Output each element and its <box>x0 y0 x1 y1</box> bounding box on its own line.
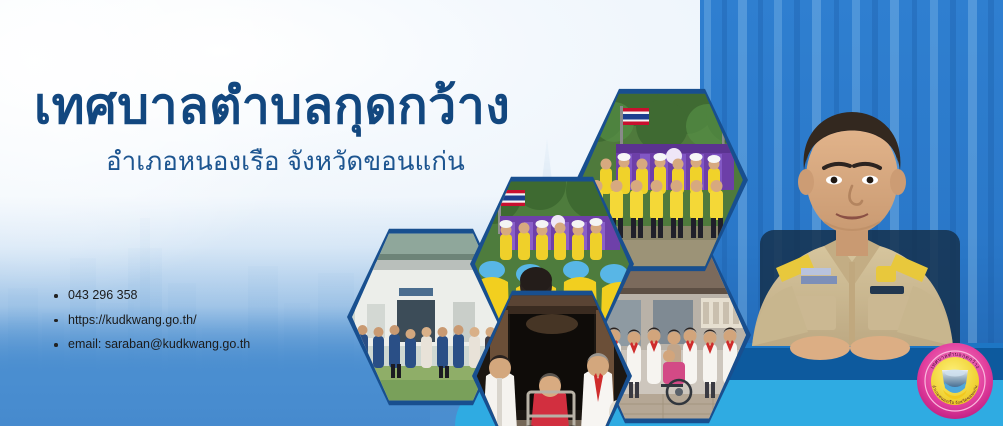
contact-phone: 043 296 358 <box>52 289 250 302</box>
municipality-banner: เทศบาลตำบลกุดกว้าง อำเภอหนองเรือ จังหวัด… <box>0 0 1003 426</box>
contact-website[interactable]: https://kudkwang.go.th/ <box>52 314 250 327</box>
page-title: เทศบาลตำบลกุดกว้าง <box>34 78 594 134</box>
title-block: เทศบาลตำบลกุดกว้าง อำเภอหนองเรือ จังหวัด… <box>34 78 594 182</box>
municipality-seal: เทศบาลตำบลกุดกว้าง อำเภอหนองเรือ จังหวัด… <box>916 342 994 420</box>
contact-email[interactable]: email: saraban@kudkwang.go.th <box>52 338 250 351</box>
page-subtitle: อำเภอหนองเรือ จังหวัดขอนแก่น <box>106 141 594 182</box>
contact-list: 043 296 358 https://kudkwang.go.th/ emai… <box>52 289 250 363</box>
